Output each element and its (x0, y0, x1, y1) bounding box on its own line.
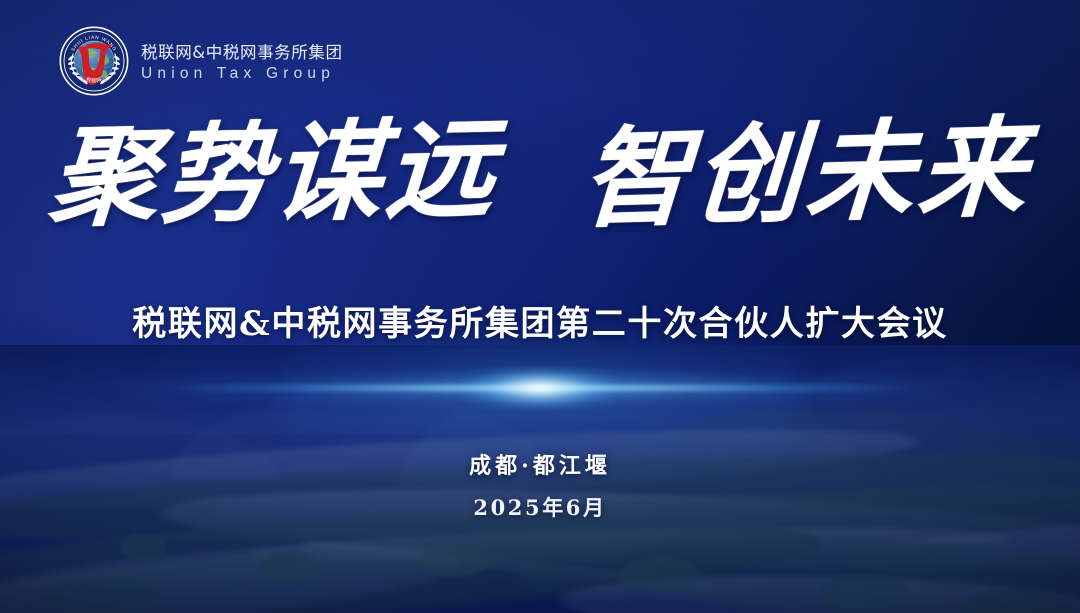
event-location: 成都·都江堰 (0, 450, 1080, 483)
event-date: 2025年6月 (0, 492, 1080, 524)
footer-block: 成都·都江堰 2025年6月 (0, 450, 1080, 524)
conference-poster: SHUI LIAN WANG 税联网 税联网&中税网事务所集团 Union Ta… (0, 0, 1080, 613)
brand-text-block: 税联网&中税网事务所集团 Union Tax Group (141, 39, 343, 84)
brand-logo-lockup[interactable]: SHUI LIAN WANG 税联网 税联网&中税网事务所集团 Union Ta… (57, 24, 343, 98)
brand-name-cn: 税联网&中税网事务所集团 (141, 43, 343, 64)
subtitle: 税联网&中税网事务所集团第二十次合伙人扩大会议 (0, 296, 1080, 345)
scene-top-fade (0, 345, 1080, 419)
brand-name-en: Union Tax Group (141, 64, 343, 83)
union-tax-group-emblem-icon: SHUI LIAN WANG 税联网 (57, 24, 131, 98)
